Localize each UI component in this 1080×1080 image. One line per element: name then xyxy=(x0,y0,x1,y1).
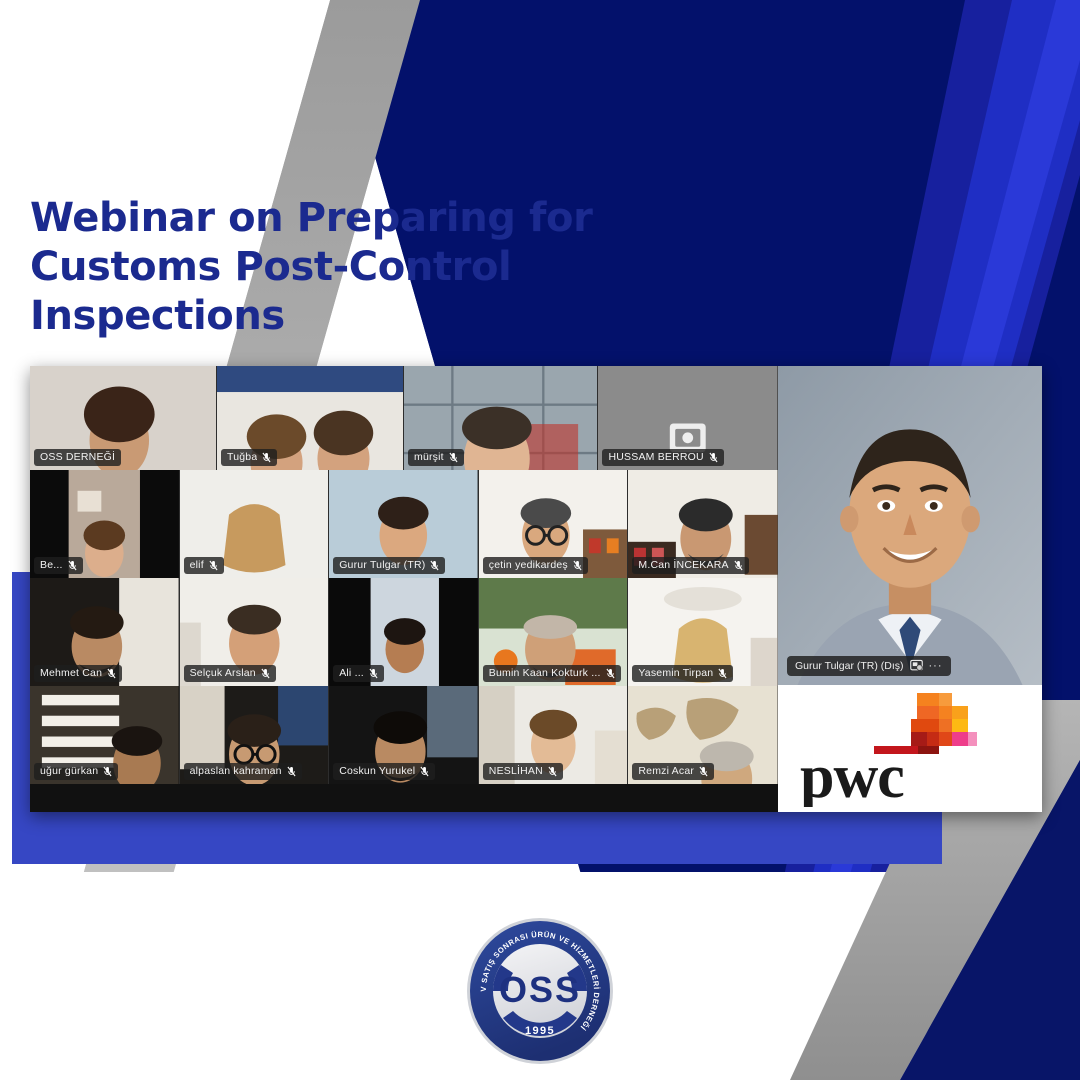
mic-muted-icon xyxy=(261,668,270,679)
participant-name: Remzi Acar xyxy=(638,765,694,777)
grid-row: uğur gürkan alpaslan kahraman xyxy=(30,686,778,784)
participant-tile[interactable]: çetin yedikardeş xyxy=(479,470,629,578)
mic-muted-icon xyxy=(420,766,429,777)
mic-muted-icon xyxy=(573,560,582,571)
mic-muted-icon xyxy=(699,766,708,777)
participant-name-badge: Yasemin Tirpan xyxy=(632,665,733,682)
mic-muted-icon xyxy=(709,452,718,463)
participant-name-badge: elif xyxy=(184,557,224,574)
mic-muted-icon xyxy=(430,560,439,571)
participant-name-badge: Coskun Yurukel xyxy=(333,763,435,780)
participant-name: Gurur Tulgar (TR) xyxy=(339,559,425,571)
participant-name: alpaslan kahraman xyxy=(190,765,282,777)
mic-muted-icon xyxy=(734,560,743,571)
participant-tile[interactable]: Mehmet Can xyxy=(30,578,180,686)
oss-year: 1995 xyxy=(525,1025,555,1037)
mic-muted-icon xyxy=(209,560,218,571)
participant-tile[interactable]: Bumin Kaan Kokturk ... xyxy=(479,578,629,686)
participant-name-badge: alpaslan kahraman xyxy=(184,763,302,780)
pwc-wordmark: pwc xyxy=(800,743,904,807)
participant-name-badge: Tuğba xyxy=(221,449,277,466)
participant-name-badge: HUSSAM BERROU xyxy=(602,449,723,466)
pin-video-icon[interactable] xyxy=(910,659,923,672)
grid-row: OSS DERNEĞİ Tuğba xyxy=(30,366,778,470)
active-speaker-tile[interactable]: Gurur Tulgar (TR) (Dış) ··· xyxy=(778,366,1042,685)
participant-name: Be... xyxy=(40,559,63,571)
side-pane: Gurur Tulgar (TR) (Dış) ··· xyxy=(778,366,1042,812)
grid-row: Mehmet Can Selçuk Arslan xyxy=(30,578,778,686)
participant-name: Mehmet Can xyxy=(40,667,102,679)
oss-center-text: OSS xyxy=(499,969,581,1010)
participant-tile[interactable]: OSS DERNEĞİ xyxy=(30,366,217,470)
participant-tile[interactable]: Yasemin Tirpan xyxy=(628,578,778,686)
participant-tile[interactable]: Be... xyxy=(30,470,180,578)
participant-name: HUSSAM BERROU xyxy=(608,451,703,463)
participant-tile[interactable]: Remzi Acar xyxy=(628,686,778,784)
more-options-icon[interactable]: ··· xyxy=(929,662,943,670)
title-line-1: Webinar on Preparing for xyxy=(30,195,592,241)
active-speaker-name: Gurur Tulgar (TR) (Dış) xyxy=(795,660,904,672)
participant-name-badge: mürşit xyxy=(408,449,464,466)
grid-row: Be... elif xyxy=(30,470,778,578)
active-speaker-name-badge: Gurur Tulgar (TR) (Dış) ··· xyxy=(787,656,951,676)
meeting-screenshot: OSS DERNEĞİ Tuğba xyxy=(30,366,1042,812)
participant-tile[interactable]: NESLİHAN xyxy=(479,686,629,784)
participant-name-badge: Ali ... xyxy=(333,665,384,682)
participant-name: Tuğba xyxy=(227,451,257,463)
title-line-2: Customs Post-Control xyxy=(30,244,511,290)
participant-tile[interactable]: alpaslan kahraman xyxy=(180,686,330,784)
participant-name: Yasemin Tirpan xyxy=(638,667,713,679)
mic-muted-icon xyxy=(68,560,77,571)
participant-name-badge: Be... xyxy=(34,557,83,574)
participant-tile[interactable]: elif xyxy=(180,470,330,578)
participant-name-badge: çetin yedikardeş xyxy=(483,557,588,574)
participant-name-badge: NESLİHAN xyxy=(483,763,563,780)
participant-tile[interactable]: Coskun Yurukel xyxy=(329,686,479,784)
mic-muted-icon xyxy=(262,452,271,463)
pwc-logo-block: pwc xyxy=(778,685,1042,812)
participant-grid: OSS DERNEĞİ Tuğba xyxy=(30,366,778,812)
participant-name-badge: Selçuk Arslan xyxy=(184,665,276,682)
participant-name-badge: Bumin Kaan Kokturk ... xyxy=(483,665,621,682)
participant-name: Bumin Kaan Kokturk ... xyxy=(489,667,601,679)
participant-name-badge: Gurur Tulgar (TR) xyxy=(333,557,445,574)
participant-name-badge: M.Can İNCEKARA xyxy=(632,557,748,574)
participant-name-badge: Mehmet Can xyxy=(34,665,122,682)
pwc-logo: pwc xyxy=(778,685,1042,807)
participant-name: Selçuk Arslan xyxy=(190,667,256,679)
mic-muted-icon xyxy=(548,766,557,777)
mic-muted-icon xyxy=(718,668,727,679)
participant-name: NESLİHAN xyxy=(489,765,543,777)
participant-name: Coskun Yurukel xyxy=(339,765,415,777)
participant-name: M.Can İNCEKARA xyxy=(638,559,728,571)
participant-name-badge: Remzi Acar xyxy=(632,763,714,780)
participant-name: uğur gürkan xyxy=(40,765,98,777)
participant-name: çetin yedikardeş xyxy=(489,559,568,571)
mic-muted-icon xyxy=(103,766,112,777)
title-line-3: Inspections xyxy=(30,293,285,339)
participant-tile[interactable]: Selçuk Arslan xyxy=(180,578,330,686)
page-title: Webinar on Preparing for Customs Post-Co… xyxy=(30,194,630,340)
participant-tile[interactable]: HUSSAM BERROU xyxy=(598,366,778,470)
mic-muted-icon xyxy=(369,668,378,679)
participant-tile[interactable]: Gurur Tulgar (TR) xyxy=(329,470,479,578)
participant-tile[interactable]: mürşit xyxy=(404,366,598,470)
participant-name-badge: OSS DERNEĞİ xyxy=(34,449,121,466)
participant-name-badge: uğur gürkan xyxy=(34,763,118,780)
poster-title-block: Webinar on Preparing for Customs Post-Co… xyxy=(30,194,630,340)
mic-muted-icon xyxy=(287,766,296,777)
participant-tile[interactable]: uğur gürkan xyxy=(30,686,180,784)
mic-muted-icon xyxy=(107,668,116,679)
participant-tile[interactable]: M.Can İNCEKARA xyxy=(628,470,778,578)
mic-muted-icon xyxy=(606,668,615,679)
participant-name: OSS DERNEĞİ xyxy=(40,451,115,463)
oss-logo: OTOMOTİV SATIŞ SONRASI ÜRÜN VE HİZMETLER… xyxy=(463,914,617,1068)
participant-tile[interactable]: Tuğba xyxy=(217,366,404,470)
participant-name: elif xyxy=(190,559,204,571)
active-speaker-video xyxy=(778,366,1042,685)
participant-name: Ali ... xyxy=(339,667,364,679)
participant-tile[interactable]: Ali ... xyxy=(329,578,479,686)
participant-name: mürşit xyxy=(414,451,444,463)
mic-muted-icon xyxy=(449,452,458,463)
